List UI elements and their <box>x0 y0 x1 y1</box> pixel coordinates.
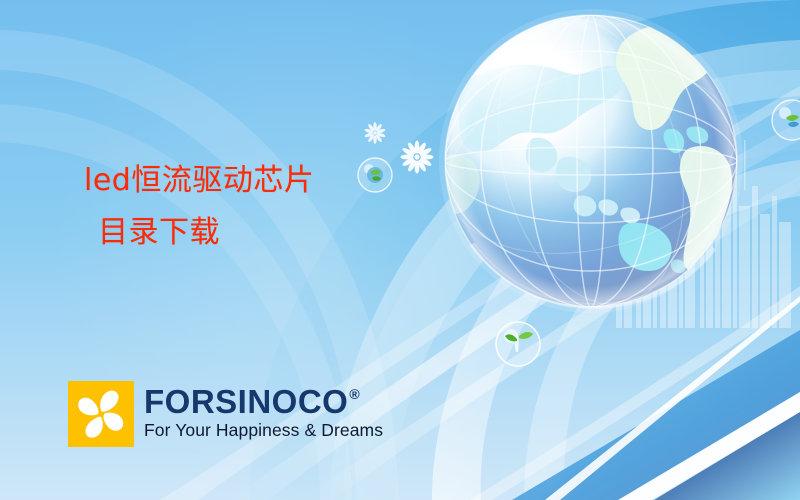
bubble-right-edge <box>772 100 800 140</box>
corner-bands <box>512 296 800 500</box>
title-line-1: led恒流驱动芯片 <box>84 166 414 196</box>
logo-tagline: For Your Happiness & Dreams <box>144 420 383 440</box>
slide-canvas: led恒流驱动芯片 目录下载 FORSINOCO <box>0 0 800 500</box>
logo-wordmark: FORSINOCO ® <box>144 385 383 419</box>
registered-trademark-symbol: ® <box>349 387 360 401</box>
world-globe-graphic <box>438 8 744 314</box>
title-line-2: 目录下载 <box>98 218 414 248</box>
pinwheel-petal-mark-icon <box>68 381 134 447</box>
daisy-burst-small <box>364 122 386 144</box>
logo-wordmark-text: FORSINOCO <box>144 385 348 419</box>
bubble-sprout <box>496 322 540 366</box>
page-title: led恒流驱动芯片 目录下载 <box>84 166 414 248</box>
logo-text-block: FORSINOCO ® For Your Happiness & Dreams <box>144 385 383 440</box>
company-logo: FORSINOCO ® For Your Happiness & Dreams <box>68 381 383 447</box>
